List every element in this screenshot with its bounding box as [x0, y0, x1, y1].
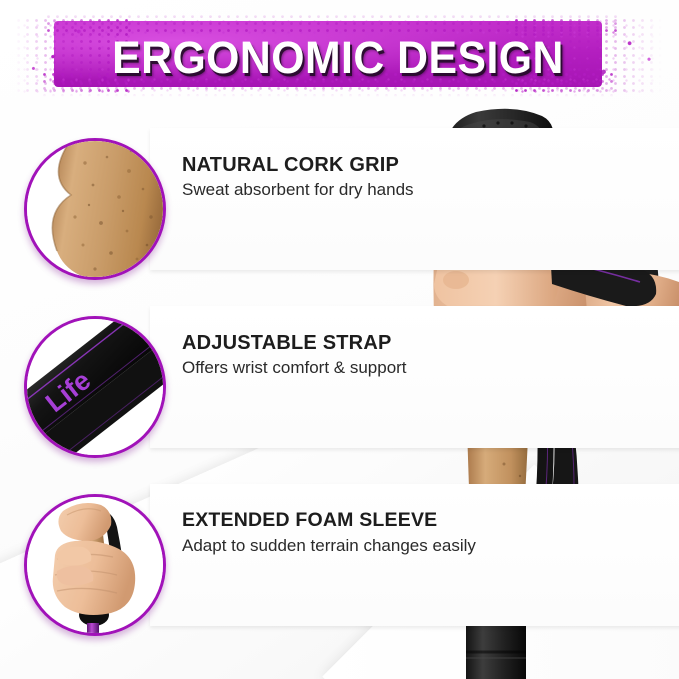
feature-list: NATURAL CORK GRIP Sweat absorbent for dr…: [0, 110, 520, 644]
cork-texture-graphic: [27, 141, 163, 277]
product-infographic: Life: [0, 0, 679, 679]
header-banner: ERGONOMIC DESIGN: [14, 13, 662, 97]
feature-title: ADJUSTABLE STRAP: [182, 332, 492, 354]
feature-item-adjustable-strap[interactable]: Life ADJUSTABLE STRAP Offers wrist comfo…: [0, 288, 520, 466]
feature-title: NATURAL CORK GRIP: [182, 154, 492, 176]
feature-description: Adapt to sudden terrain changes easily: [182, 535, 492, 556]
feature-item-foam-sleeve[interactable]: EXTENDED FOAM SLEEVE Adapt to sudden ter…: [0, 466, 520, 644]
hands-on-pole-graphic: [27, 497, 163, 633]
feature-text: NATURAL CORK GRIP Sweat absorbent for dr…: [182, 154, 492, 201]
feature-item-cork-grip[interactable]: NATURAL CORK GRIP Sweat absorbent for dr…: [0, 110, 520, 288]
feature-description: Offers wrist comfort & support: [182, 357, 492, 378]
foam-sleeve-grip-closeup-icon: [24, 494, 166, 636]
feature-title: EXTENDED FOAM SLEEVE: [182, 510, 492, 532]
feature-description: Sweat absorbent for dry hands: [182, 179, 492, 200]
strap-webbing-graphic: Life: [27, 319, 163, 455]
page-title: ERGONOMIC DESIGN: [30, 32, 646, 84]
feature-text: ADJUSTABLE STRAP Offers wrist comfort & …: [182, 332, 492, 379]
adjustable-strap-closeup-icon: Life: [24, 316, 166, 458]
feature-text: EXTENDED FOAM SLEEVE Adapt to sudden ter…: [182, 510, 492, 556]
cork-grip-closeup-icon: [24, 138, 166, 280]
